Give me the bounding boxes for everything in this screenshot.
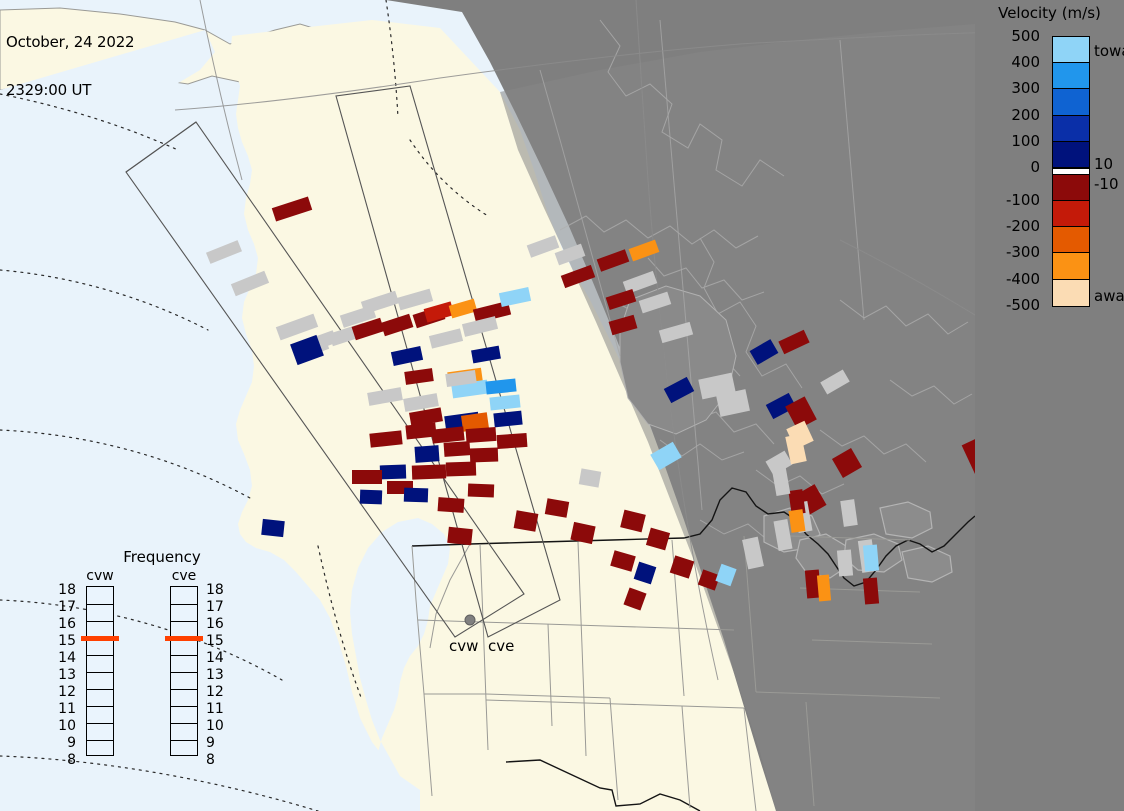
colorbar-cell-toward-1 [1053, 63, 1089, 89]
frequency-gridline [87, 604, 113, 605]
velocity-cell [493, 411, 522, 428]
time-label: 2329:00 UT [6, 82, 134, 98]
frequency-scale-box-cvw [86, 586, 114, 756]
frequency-gridline [87, 621, 113, 622]
frequency-tick-cvw-14: 14 [58, 650, 76, 666]
frequency-tick-cve-13: 13 [206, 667, 224, 683]
frequency-gridline [87, 689, 113, 690]
frequency-scale-box-cve [170, 586, 198, 756]
colorbar-tick--300: -300 [1006, 243, 1040, 261]
colorbar-cell-away-1 [1053, 201, 1089, 227]
frequency-tick-cve-17: 17 [206, 599, 224, 615]
colorbar-zero-band [1053, 168, 1089, 175]
frequency-tick-cvw-16: 16 [58, 616, 76, 632]
velocity-cell [468, 484, 494, 498]
frequency-gridline [87, 655, 113, 656]
velocity-cell [446, 461, 476, 476]
velocity-cell [404, 488, 428, 503]
colorbar-tick-100: 100 [1011, 132, 1040, 150]
colorbar-cell-away-2 [1053, 227, 1089, 253]
frequency-gridline [171, 706, 197, 707]
colorbar-tick-0: 0 [1030, 158, 1040, 176]
velocity-cell [514, 510, 539, 532]
velocity-cell [817, 575, 831, 602]
frequency-gridline [87, 723, 113, 724]
frequency-tick-cve-8: 8 [206, 752, 215, 768]
superdarn-fan-plot: October, 24 2022 2329:00 UT Velocity (m/… [0, 0, 1124, 811]
frequency-gridline [171, 621, 197, 622]
frequency-tick-cve-14: 14 [206, 650, 224, 666]
frequency-gridline [87, 672, 113, 673]
velocity-cell [261, 519, 285, 537]
frequency-tick-cvw-9: 9 [67, 735, 76, 751]
frequency-gridline [171, 689, 197, 690]
velocity-cell [414, 445, 439, 463]
frequency-tick-cve-11: 11 [206, 701, 224, 717]
colorbar-cell-away-4 [1053, 280, 1089, 306]
frequency-marker-cvw [81, 636, 119, 641]
frequency-panel: Frequency cvw18171615141312111098cve1817… [82, 548, 242, 788]
frequency-title: Frequency [82, 548, 242, 566]
frequency-gridline [171, 740, 197, 741]
site-label-cve: cve [488, 637, 514, 655]
colorbar-title: Velocity (m/s) [975, 4, 1124, 22]
velocity-cell [497, 433, 528, 449]
colorbar-cell-toward-3 [1053, 116, 1089, 142]
colorbar-strip [1052, 36, 1090, 307]
colorbar-tick-500: 500 [1011, 27, 1040, 45]
colorbar-toward-label: toward [1094, 42, 1124, 60]
frequency-tick-cvw-12: 12 [58, 684, 76, 700]
frequency-tick-cve-18: 18 [206, 582, 224, 598]
velocity-cell [863, 544, 879, 571]
colorbar-tick-200: 200 [1011, 106, 1040, 124]
velocity-cell [380, 465, 406, 480]
frequency-gridline [171, 604, 197, 605]
frequency-column-cvw: cvw18171615141312111098 [82, 568, 118, 756]
velocity-cell [438, 497, 465, 513]
velocity-cell [444, 441, 471, 457]
frequency-tick-cve-16: 16 [206, 616, 224, 632]
frequency-tick-cvw-11: 11 [58, 701, 76, 717]
timestamp-block: October, 24 2022 2329:00 UT [6, 2, 134, 130]
frequency-tick-cvw-8: 8 [67, 752, 76, 768]
colorbar-tick-400: 400 [1011, 53, 1040, 71]
frequency-radar-label-cve: cve [166, 568, 202, 584]
colorbar-cell-away-0 [1053, 175, 1089, 201]
velocity-cell [466, 427, 497, 443]
frequency-tick-cvw-15: 15 [58, 633, 76, 649]
velocity-cell [863, 577, 879, 604]
frequency-gridline [171, 672, 197, 673]
frequency-gridline [87, 740, 113, 741]
colorbar-upper-deadzone-label: 10 [1094, 155, 1113, 173]
frequency-marker-cve [165, 636, 203, 641]
colorbar-tick--200: -200 [1006, 217, 1040, 235]
site-label-cvw: cvw [449, 637, 478, 655]
date-label: October, 24 2022 [6, 34, 134, 50]
frequency-tick-cve-12: 12 [206, 684, 224, 700]
frequency-gridline [171, 723, 197, 724]
colorbar-away-label: away [1094, 287, 1124, 305]
frequency-gridline [87, 706, 113, 707]
velocity-cell [412, 464, 446, 479]
colorbar-tick--100: -100 [1006, 191, 1040, 209]
colorbar-cell-toward-2 [1053, 89, 1089, 115]
radar-site-marker [465, 615, 475, 625]
frequency-tick-cve-15: 15 [206, 633, 224, 649]
velocity-cell [447, 527, 473, 545]
frequency-radar-label-cvw: cvw [82, 568, 118, 584]
velocity-cell [360, 490, 382, 505]
colorbar-cell-away-3 [1053, 253, 1089, 279]
colorbar-cell-toward-4 [1053, 142, 1089, 168]
velocity-cell [470, 448, 498, 463]
frequency-tick-cvw-17: 17 [58, 599, 76, 615]
frequency-tick-cve-10: 10 [206, 718, 224, 734]
velocity-cell [352, 470, 382, 484]
colorbar-cell-toward-0 [1053, 37, 1089, 63]
velocity-colorbar-panel: Velocity (m/s) 5004003002001000-100-200-… [975, 0, 1124, 811]
frequency-gridline [171, 655, 197, 656]
colorbar-lower-deadzone-label: -10 [1094, 175, 1119, 193]
frequency-tick-cvw-10: 10 [58, 718, 76, 734]
colorbar-tick--400: -400 [1006, 270, 1040, 288]
frequency-column-cve: cve18171615141312111098 [166, 568, 202, 756]
velocity-cell [837, 549, 853, 576]
frequency-tick-cve-9: 9 [206, 735, 215, 751]
velocity-cell [579, 468, 601, 487]
colorbar-tick--500: -500 [1006, 296, 1040, 314]
colorbar-tick-300: 300 [1011, 79, 1040, 97]
frequency-tick-cvw-13: 13 [58, 667, 76, 683]
frequency-tick-cvw-18: 18 [58, 582, 76, 598]
